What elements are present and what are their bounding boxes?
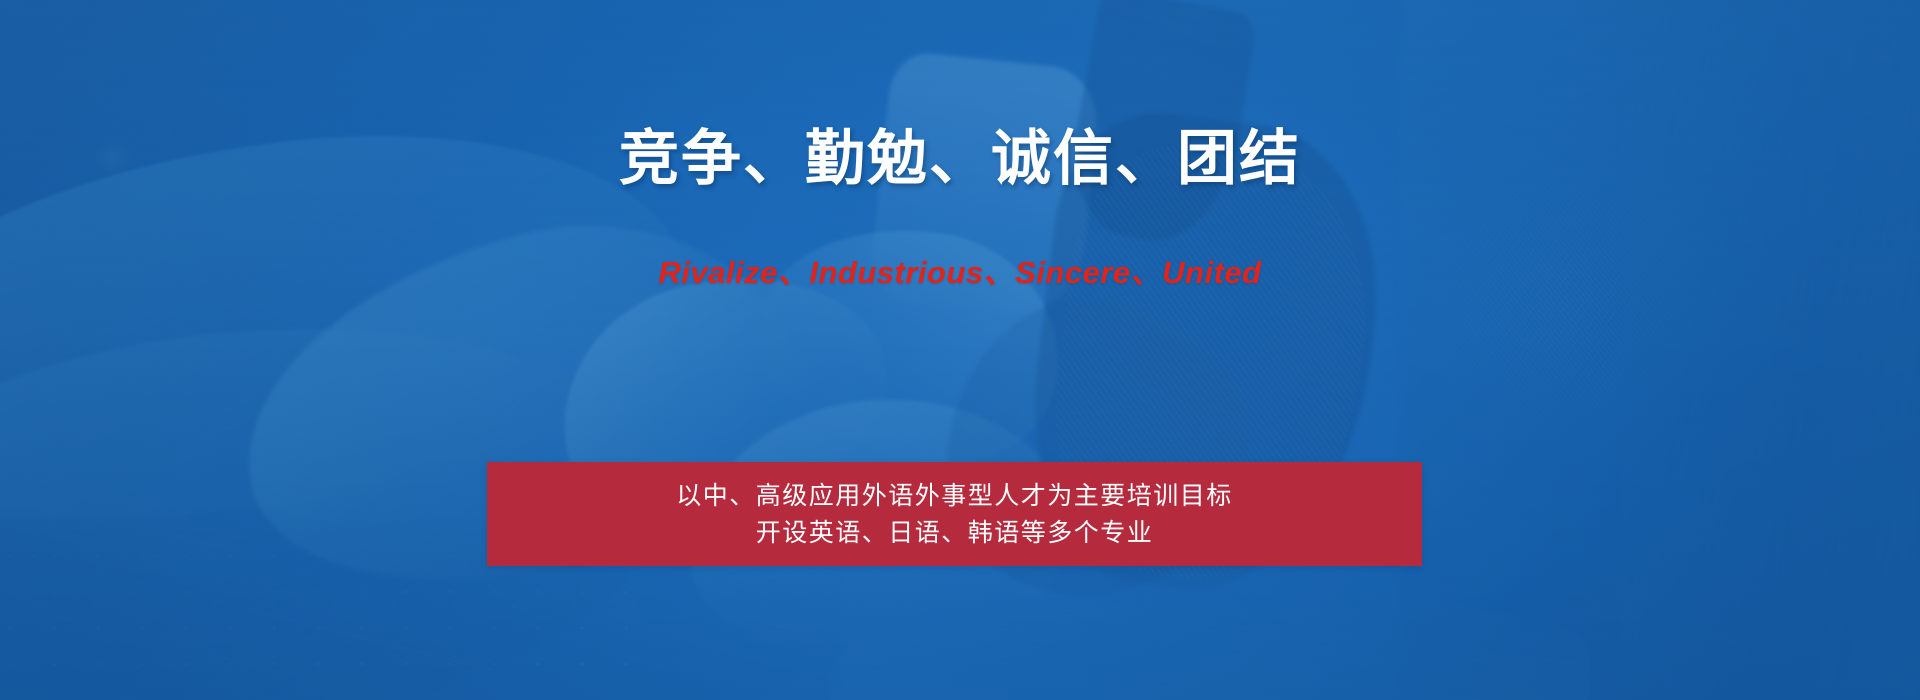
highlight-box: 以中、高级应用外语外事型人才为主要培训目标 开设英语、日语、韩语等多个专业 [487, 462, 1422, 566]
highlight-box-line-2: 开设英语、日语、韩语等多个专业 [756, 514, 1154, 551]
banner-subheadline: Rivalize、Industrious、Sincere、United [0, 256, 1920, 290]
banner-content: 竞争、勤勉、诚信、团结 Rivalize、Industrious、Sincere… [0, 0, 1920, 700]
highlight-box-line-1: 以中、高级应用外语外事型人才为主要培训目标 [676, 477, 1233, 514]
banner-headline: 竞争、勤勉、诚信、团结 [0, 126, 1920, 192]
promo-banner: 竞争、勤勉、诚信、团结 Rivalize、Industrious、Sincere… [0, 0, 1920, 700]
